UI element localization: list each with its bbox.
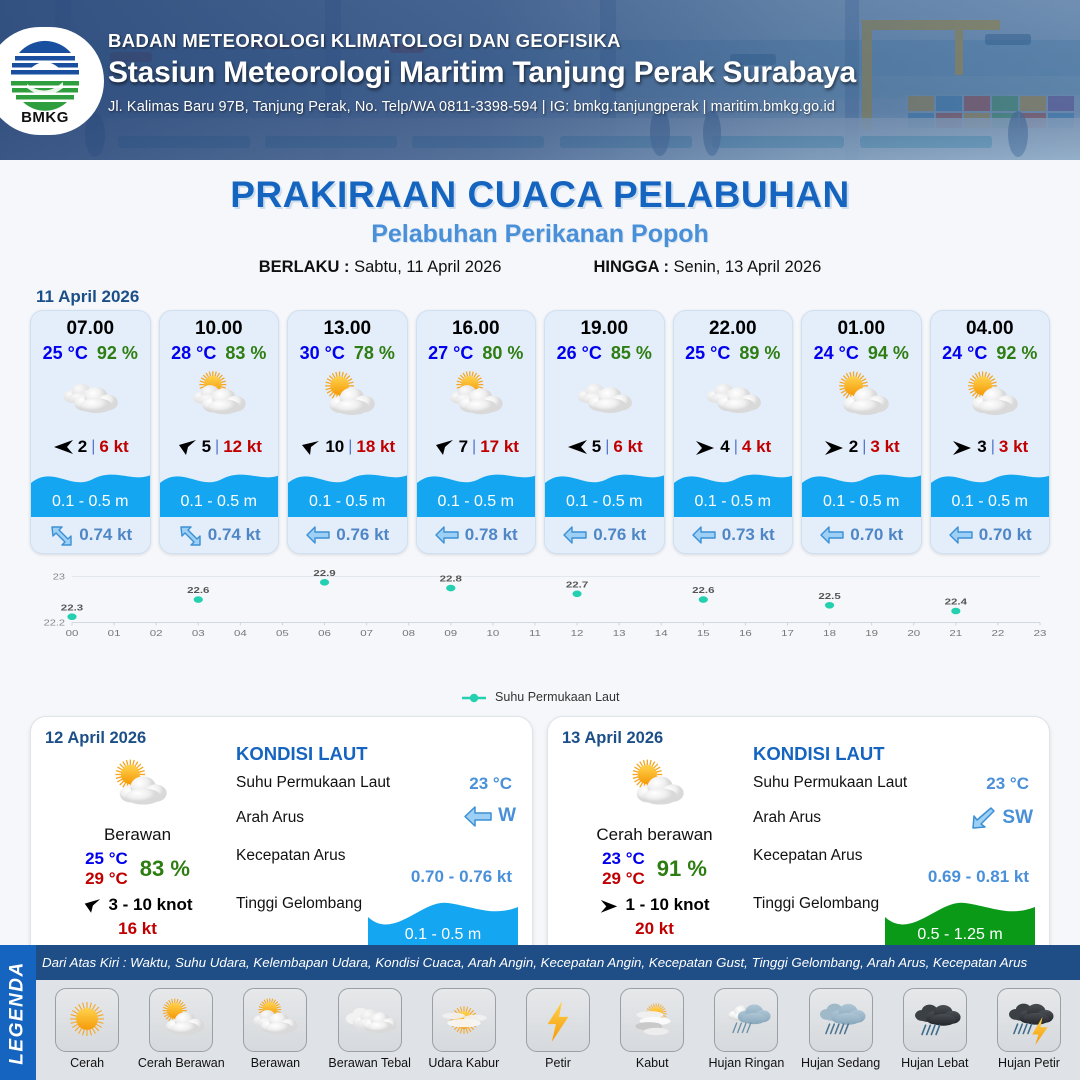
daily-temp-min: 23 °C bbox=[602, 849, 645, 869]
sst-label: Suhu Permukaan Laut bbox=[236, 774, 390, 791]
legend-item: Hujan Lebat bbox=[888, 988, 982, 1070]
card-wave-height: 0.1 - 0.5 m bbox=[417, 493, 536, 511]
hourly-card: 13.00 30 °C 78 % 10 | 18 kt 0.1 - 0.5 m bbox=[287, 310, 408, 554]
daily-gust: 20 kt bbox=[562, 919, 747, 939]
title-block: PRAKIRAAN CUACA PELABUHAN Pelabuhan Peri… bbox=[0, 174, 1080, 277]
card-wave: 0.1 - 0.5 m bbox=[160, 465, 279, 517]
card-current: 0.70 kt bbox=[931, 517, 1050, 553]
card-wave: 0.1 - 0.5 m bbox=[417, 465, 536, 517]
card-wind: 5 | 12 kt bbox=[160, 434, 279, 460]
legend-item-label: Udara Kabur bbox=[428, 1056, 499, 1070]
current-direction-value: SW bbox=[967, 805, 1033, 831]
card-wind-speed: 6 kt bbox=[613, 437, 642, 457]
card-humidity: 92 % bbox=[97, 343, 138, 364]
card-wind-degree: 2 bbox=[849, 437, 858, 457]
card-temperature: 24 °C bbox=[814, 343, 859, 364]
card-wind: 3 | 3 kt bbox=[931, 434, 1050, 460]
wind-direction-icon bbox=[299, 438, 321, 456]
daily-wind-range: 3 - 10 knot bbox=[108, 895, 192, 915]
legend-item-label: Berawan bbox=[251, 1056, 300, 1070]
legend-item: Cerah Berawan bbox=[134, 988, 228, 1070]
svg-text:23: 23 bbox=[1034, 629, 1047, 638]
card-humidity: 89 % bbox=[739, 343, 780, 364]
legend-item-label: Hujan Ringan bbox=[709, 1056, 785, 1070]
bmkg-logo-text: BMKG bbox=[5, 109, 85, 126]
card-wind-degree: 5 bbox=[202, 437, 211, 457]
chart-legend-marker-icon bbox=[461, 692, 487, 704]
card-wave: 0.1 - 0.5 m bbox=[802, 465, 921, 517]
daily-temp-max: 29 °C bbox=[602, 869, 645, 889]
current-direction-icon bbox=[691, 525, 717, 545]
legend-item-label: Berawan Tebal bbox=[328, 1056, 410, 1070]
card-temperature: 25 °C bbox=[685, 343, 730, 364]
svg-text:07: 07 bbox=[360, 629, 373, 638]
card-wave-height: 0.1 - 0.5 m bbox=[674, 493, 793, 511]
bmkg-logo: BMKG bbox=[0, 27, 104, 135]
legend-item-label: Cerah Berawan bbox=[138, 1056, 225, 1070]
wave-height-label: Tinggi Gelombang bbox=[236, 895, 362, 912]
legend-side-title: LEGENDA bbox=[7, 961, 29, 1064]
card-temperature: 24 °C bbox=[942, 343, 987, 364]
daily-forecast-panel: 12 April 2026 Berawan 25 °C 29 °C 83 % 3… bbox=[30, 716, 533, 964]
legend-item: Hujan Petir bbox=[982, 988, 1076, 1070]
current-direction-label: Arah Arus bbox=[236, 809, 304, 826]
legend-icon-petir-icon bbox=[526, 988, 590, 1052]
wind-direction-icon bbox=[951, 438, 973, 456]
card-current-speed: 0.70 kt bbox=[979, 525, 1032, 545]
card-current: 0.76 kt bbox=[288, 517, 407, 553]
svg-text:22.6: 22.6 bbox=[187, 586, 210, 595]
card-wind-separator: | bbox=[215, 438, 219, 456]
current-direction-icon bbox=[305, 525, 331, 545]
card-temperature: 30 °C bbox=[300, 343, 345, 364]
svg-text:13: 13 bbox=[613, 629, 626, 638]
card-weather-icon bbox=[931, 366, 1050, 428]
page-subtitle: Pelabuhan Perikanan Popoh bbox=[0, 220, 1080, 249]
wave-height-value: 0.5 - 1.25 m bbox=[885, 926, 1035, 944]
card-time: 22.00 bbox=[674, 311, 793, 340]
card-wind-speed: 3 kt bbox=[999, 437, 1028, 457]
legend-icon-kabut-icon bbox=[620, 988, 684, 1052]
daily-wind: 1 - 10 knot bbox=[562, 895, 747, 915]
card-humidity: 83 % bbox=[225, 343, 266, 364]
card-time: 13.00 bbox=[288, 311, 407, 340]
card-temperature: 27 °C bbox=[428, 343, 473, 364]
daily-temp-min: 25 °C bbox=[85, 849, 128, 869]
card-wave: 0.1 - 0.5 m bbox=[931, 465, 1050, 517]
hingga: HINGGA : Senin, 13 April 2026 bbox=[593, 258, 821, 277]
card-wind-degree: 2 bbox=[78, 437, 87, 457]
daily-condition: Cerah berawan bbox=[562, 825, 747, 845]
card-current: 0.74 kt bbox=[31, 517, 150, 553]
card-humidity: 92 % bbox=[996, 343, 1037, 364]
card-wind: 2 | 3 kt bbox=[802, 434, 921, 460]
svg-text:22.3: 22.3 bbox=[61, 604, 84, 613]
card-humidity: 85 % bbox=[611, 343, 652, 364]
legend-item: Berawan Tebal bbox=[323, 988, 417, 1070]
card-wave: 0.1 - 0.5 m bbox=[288, 465, 407, 517]
daily-temp-max: 29 °C bbox=[85, 869, 128, 889]
card-wind-degree: 3 bbox=[977, 437, 986, 457]
svg-text:04: 04 bbox=[234, 629, 247, 638]
hourly-card: 04.00 24 °C 92 % 3 | 3 kt 0.1 - 0.5 m bbox=[930, 310, 1051, 554]
card-weather-icon bbox=[417, 366, 536, 428]
daily-wind: 3 - 10 knot bbox=[45, 895, 230, 915]
card-wind-separator: | bbox=[862, 438, 866, 456]
berlaku: BERLAKU : Sabtu, 11 April 2026 bbox=[259, 258, 502, 277]
sst-label: Suhu Permukaan Laut bbox=[753, 774, 907, 791]
daily-forecast-panel: 13 April 2026 Cerah berawan 23 °C 29 °C … bbox=[547, 716, 1050, 964]
daily-date: 13 April 2026 bbox=[562, 729, 747, 748]
svg-text:22.2: 22.2 bbox=[44, 619, 65, 628]
card-current-speed: 0.74 kt bbox=[79, 525, 132, 545]
legend-footer: LEGENDA Dari Atas Kiri : Waktu, Suhu Uda… bbox=[0, 945, 1080, 1080]
sst-chart: 22.2230001020304050607080910111213141516… bbox=[30, 568, 1050, 688]
current-direction-icon bbox=[967, 805, 997, 831]
legend-item: Cerah bbox=[40, 988, 134, 1070]
agency-name: BADAN METEOROLOGI KLIMATOLOGI DAN GEOFIS… bbox=[108, 30, 856, 52]
legend-side-bar: LEGENDA bbox=[0, 945, 36, 1080]
svg-text:11: 11 bbox=[529, 629, 541, 638]
current-direction-icon bbox=[463, 805, 493, 827]
card-temperature: 26 °C bbox=[557, 343, 602, 364]
station-name: Stasiun Meteorologi Maritim Tanjung Pera… bbox=[108, 56, 856, 90]
card-wind-separator: | bbox=[734, 438, 738, 456]
current-direction-icon bbox=[434, 525, 460, 545]
wind-direction-icon bbox=[52, 438, 74, 456]
svg-text:01: 01 bbox=[108, 629, 121, 638]
svg-text:22.4: 22.4 bbox=[945, 598, 968, 607]
legend-icon-hujan-lebat-icon bbox=[903, 988, 967, 1052]
legend-item-label: Petir bbox=[545, 1056, 571, 1070]
card-weather-icon bbox=[288, 366, 407, 428]
card-time: 10.00 bbox=[160, 311, 279, 340]
legend-item: Kabut bbox=[605, 988, 699, 1070]
legend-item-label: Hujan Sedang bbox=[801, 1056, 880, 1070]
card-time: 01.00 bbox=[802, 311, 921, 340]
card-wind-speed: 3 kt bbox=[870, 437, 899, 457]
wind-direction-icon bbox=[82, 897, 102, 914]
legend-item: Hujan Ringan bbox=[699, 988, 793, 1070]
current-speed-value: 0.70 - 0.76 kt bbox=[236, 867, 518, 887]
svg-text:18: 18 bbox=[823, 629, 836, 638]
page-header: BMKG BADAN METEOROLOGI KLIMATOLOGI DAN G… bbox=[0, 0, 1080, 160]
legend-item-label: Hujan Lebat bbox=[901, 1056, 968, 1070]
svg-text:05: 05 bbox=[276, 629, 289, 638]
hourly-card: 01.00 24 °C 94 % 2 | 3 kt 0.1 - 0.5 m bbox=[801, 310, 922, 554]
svg-text:22: 22 bbox=[992, 629, 1005, 638]
svg-text:22.8: 22.8 bbox=[440, 575, 463, 584]
legend-icon-hujan-petir-icon bbox=[997, 988, 1061, 1052]
legend-icon-hujan-sedang-icon bbox=[809, 988, 873, 1052]
daily-weather-icon bbox=[562, 754, 747, 818]
svg-text:16: 16 bbox=[739, 629, 752, 638]
bmkg-logo-icon bbox=[5, 37, 85, 111]
card-weather-icon bbox=[802, 366, 921, 428]
card-weather-icon bbox=[31, 366, 150, 428]
card-wind-speed: 18 kt bbox=[356, 437, 395, 457]
daily-forecast-row: 12 April 2026 Berawan 25 °C 29 °C 83 % 3… bbox=[0, 716, 1080, 964]
svg-text:08: 08 bbox=[402, 629, 415, 638]
daily-wind-range: 1 - 10 knot bbox=[625, 895, 709, 915]
svg-text:22.9: 22.9 bbox=[313, 569, 336, 578]
card-weather-icon bbox=[545, 366, 664, 428]
card-wind-separator: | bbox=[991, 438, 995, 456]
card-current: 0.70 kt bbox=[802, 517, 921, 553]
svg-text:23: 23 bbox=[53, 573, 65, 582]
current-direction-label: Arah Arus bbox=[753, 809, 821, 826]
daily-gust: 16 kt bbox=[45, 919, 230, 939]
hourly-card: 19.00 26 °C 85 % 5 | 6 kt 0.1 - 0.5 m bbox=[544, 310, 665, 554]
card-temperature: 25 °C bbox=[43, 343, 88, 364]
svg-text:02: 02 bbox=[150, 629, 163, 638]
sst-value: 23 °C bbox=[469, 774, 512, 794]
card-current-speed: 0.76 kt bbox=[336, 525, 389, 545]
card-weather-icon bbox=[160, 366, 279, 428]
card-wave: 0.1 - 0.5 m bbox=[31, 465, 150, 517]
card-wave-height: 0.1 - 0.5 m bbox=[31, 493, 150, 511]
current-direction-value: W bbox=[463, 805, 516, 827]
card-current-speed: 0.70 kt bbox=[850, 525, 903, 545]
card-wind-degree: 10 bbox=[325, 437, 344, 457]
card-wave-height: 0.1 - 0.5 m bbox=[802, 493, 921, 511]
card-wind-separator: | bbox=[472, 438, 476, 456]
legend-item-label: Kabut bbox=[636, 1056, 669, 1070]
card-weather-icon bbox=[674, 366, 793, 428]
chart-legend-label: Suhu Permukaan Laut bbox=[495, 690, 619, 704]
wind-direction-icon bbox=[694, 438, 716, 456]
hourly-card: 16.00 27 °C 80 % 7 | 17 kt 0.1 - 0.5 m bbox=[416, 310, 537, 554]
svg-text:15: 15 bbox=[697, 629, 710, 638]
card-humidity: 94 % bbox=[868, 343, 909, 364]
daily-humidity: 91 % bbox=[657, 856, 707, 882]
card-wave: 0.1 - 0.5 m bbox=[674, 465, 793, 517]
svg-text:00: 00 bbox=[66, 629, 79, 638]
page-title: PRAKIRAAN CUACA PELABUHAN bbox=[0, 174, 1080, 216]
svg-text:14: 14 bbox=[655, 629, 668, 638]
wind-direction-icon bbox=[176, 438, 198, 456]
svg-text:19: 19 bbox=[865, 629, 878, 638]
card-time: 19.00 bbox=[545, 311, 664, 340]
daily-condition: Berawan bbox=[45, 825, 230, 845]
hourly-card: 07.00 25 °C 92 % 2 | 6 kt 0.1 - 0.5 m bbox=[30, 310, 151, 554]
legend-icon-cerah-icon bbox=[55, 988, 119, 1052]
daily-weather-icon bbox=[45, 754, 230, 818]
current-speed-label: Kecepatan Arus bbox=[753, 847, 862, 864]
card-wave-height: 0.1 - 0.5 m bbox=[931, 493, 1050, 511]
current-direction-icon bbox=[48, 523, 74, 547]
card-current: 0.78 kt bbox=[417, 517, 536, 553]
hourly-date-label: 11 April 2026 bbox=[36, 287, 1080, 307]
legend-item: Udara Kabur bbox=[417, 988, 511, 1070]
card-wind-separator: | bbox=[91, 438, 95, 456]
legend-item-label: Cerah bbox=[70, 1056, 104, 1070]
current-direction-icon bbox=[177, 523, 203, 547]
hingga-label: HINGGA : bbox=[593, 258, 668, 276]
card-wind: 2 | 6 kt bbox=[31, 434, 150, 460]
chart-legend: Suhu Permukaan Laut bbox=[30, 690, 1050, 704]
svg-text:12: 12 bbox=[571, 629, 584, 638]
sea-condition-header: KONDISI LAUT bbox=[236, 743, 518, 765]
card-current: 0.76 kt bbox=[545, 517, 664, 553]
card-humidity: 80 % bbox=[482, 343, 523, 364]
current-direction-icon bbox=[562, 525, 588, 545]
svg-text:03: 03 bbox=[192, 629, 205, 638]
wave-height-label: Tinggi Gelombang bbox=[753, 895, 879, 912]
legend-item: Hujan Sedang bbox=[794, 988, 888, 1070]
card-current-speed: 0.74 kt bbox=[208, 525, 261, 545]
legend-icon-hujan-ringan-icon bbox=[714, 988, 778, 1052]
card-wind-speed: 12 kt bbox=[223, 437, 262, 457]
card-wind: 10 | 18 kt bbox=[288, 434, 407, 460]
berlaku-label: BERLAKU : bbox=[259, 258, 350, 276]
contact-info: Jl. Kalimas Baru 97B, Tanjung Perak, No.… bbox=[108, 99, 856, 115]
svg-text:10: 10 bbox=[486, 629, 499, 638]
card-wind-speed: 6 kt bbox=[99, 437, 128, 457]
hingga-value: Senin, 13 April 2026 bbox=[674, 258, 822, 276]
validity-range: BERLAKU : Sabtu, 11 April 2026 HINGGA : … bbox=[0, 258, 1080, 277]
sst-chart-plot: 22.2230001020304050607080910111213141516… bbox=[30, 568, 1050, 654]
card-time: 16.00 bbox=[417, 311, 536, 340]
legend-item: Petir bbox=[511, 988, 605, 1070]
current-speed-value: 0.69 - 0.81 kt bbox=[753, 867, 1035, 887]
svg-text:22.6: 22.6 bbox=[692, 586, 715, 595]
card-wind-degree: 7 bbox=[459, 437, 468, 457]
svg-text:20: 20 bbox=[907, 629, 920, 638]
legend-note: Dari Atas Kiri : Waktu, Suhu Udara, Kele… bbox=[36, 945, 1080, 980]
legend-item-label: Hujan Petir bbox=[998, 1056, 1060, 1070]
svg-text:21: 21 bbox=[949, 629, 962, 638]
legend-icon-udara-kabur-icon bbox=[432, 988, 496, 1052]
wind-direction-icon bbox=[823, 438, 845, 456]
legend-icon-berawan-tebal-icon bbox=[338, 988, 402, 1052]
card-wind: 7 | 17 kt bbox=[417, 434, 536, 460]
card-wind: 4 | 4 kt bbox=[674, 434, 793, 460]
daily-date: 12 April 2026 bbox=[45, 729, 230, 748]
svg-text:09: 09 bbox=[444, 629, 457, 638]
card-temperature: 28 °C bbox=[171, 343, 216, 364]
svg-text:17: 17 bbox=[781, 629, 794, 638]
svg-text:22.5: 22.5 bbox=[818, 592, 841, 601]
svg-text:06: 06 bbox=[318, 629, 331, 638]
card-wave-height: 0.1 - 0.5 m bbox=[160, 493, 279, 511]
wind-direction-icon bbox=[433, 438, 455, 456]
berlaku-value: Sabtu, 11 April 2026 bbox=[354, 258, 501, 276]
card-wave: 0.1 - 0.5 m bbox=[545, 465, 664, 517]
sea-condition-header: KONDISI LAUT bbox=[753, 743, 1035, 765]
current-direction-icon bbox=[819, 525, 845, 545]
card-wind-degree: 5 bbox=[592, 437, 601, 457]
card-time: 04.00 bbox=[931, 311, 1050, 340]
wind-direction-icon bbox=[599, 897, 619, 914]
card-wind-degree: 4 bbox=[720, 437, 729, 457]
card-wind-separator: | bbox=[348, 438, 352, 456]
legend-icon-list: Cerah Cerah Berawan Berawan bbox=[36, 980, 1080, 1080]
card-current: 0.73 kt bbox=[674, 517, 793, 553]
legend-icon-berawan-sun-icon bbox=[243, 988, 307, 1052]
hourly-forecast-strip: 07.00 25 °C 92 % 2 | 6 kt 0.1 - 0.5 m bbox=[0, 310, 1080, 554]
card-current-speed: 0.78 kt bbox=[465, 525, 518, 545]
current-speed-label: Kecepatan Arus bbox=[236, 847, 345, 864]
card-wind: 5 | 6 kt bbox=[545, 434, 664, 460]
wave-height-value: 0.1 - 0.5 m bbox=[368, 926, 518, 944]
svg-text:22.7: 22.7 bbox=[566, 581, 589, 590]
card-current-speed: 0.76 kt bbox=[593, 525, 646, 545]
card-wind-separator: | bbox=[605, 438, 609, 456]
hourly-card: 22.00 25 °C 89 % 4 | 4 kt 0.1 - 0.5 m bbox=[673, 310, 794, 554]
card-current-speed: 0.73 kt bbox=[722, 525, 775, 545]
current-direction-icon bbox=[948, 525, 974, 545]
card-wind-speed: 4 kt bbox=[742, 437, 771, 457]
daily-humidity: 83 % bbox=[140, 856, 190, 882]
card-humidity: 78 % bbox=[354, 343, 395, 364]
card-wave-height: 0.1 - 0.5 m bbox=[288, 493, 407, 511]
card-current: 0.74 kt bbox=[160, 517, 279, 553]
wind-direction-icon bbox=[566, 438, 588, 456]
hourly-card: 10.00 28 °C 83 % 5 | 12 kt 0.1 - 0.5 m bbox=[159, 310, 280, 554]
card-wind-speed: 17 kt bbox=[480, 437, 519, 457]
legend-icon-cerah-berawan-icon bbox=[149, 988, 213, 1052]
card-time: 07.00 bbox=[31, 311, 150, 340]
card-wave-height: 0.1 - 0.5 m bbox=[545, 493, 664, 511]
legend-item: Berawan bbox=[228, 988, 322, 1070]
sst-value: 23 °C bbox=[986, 774, 1029, 794]
